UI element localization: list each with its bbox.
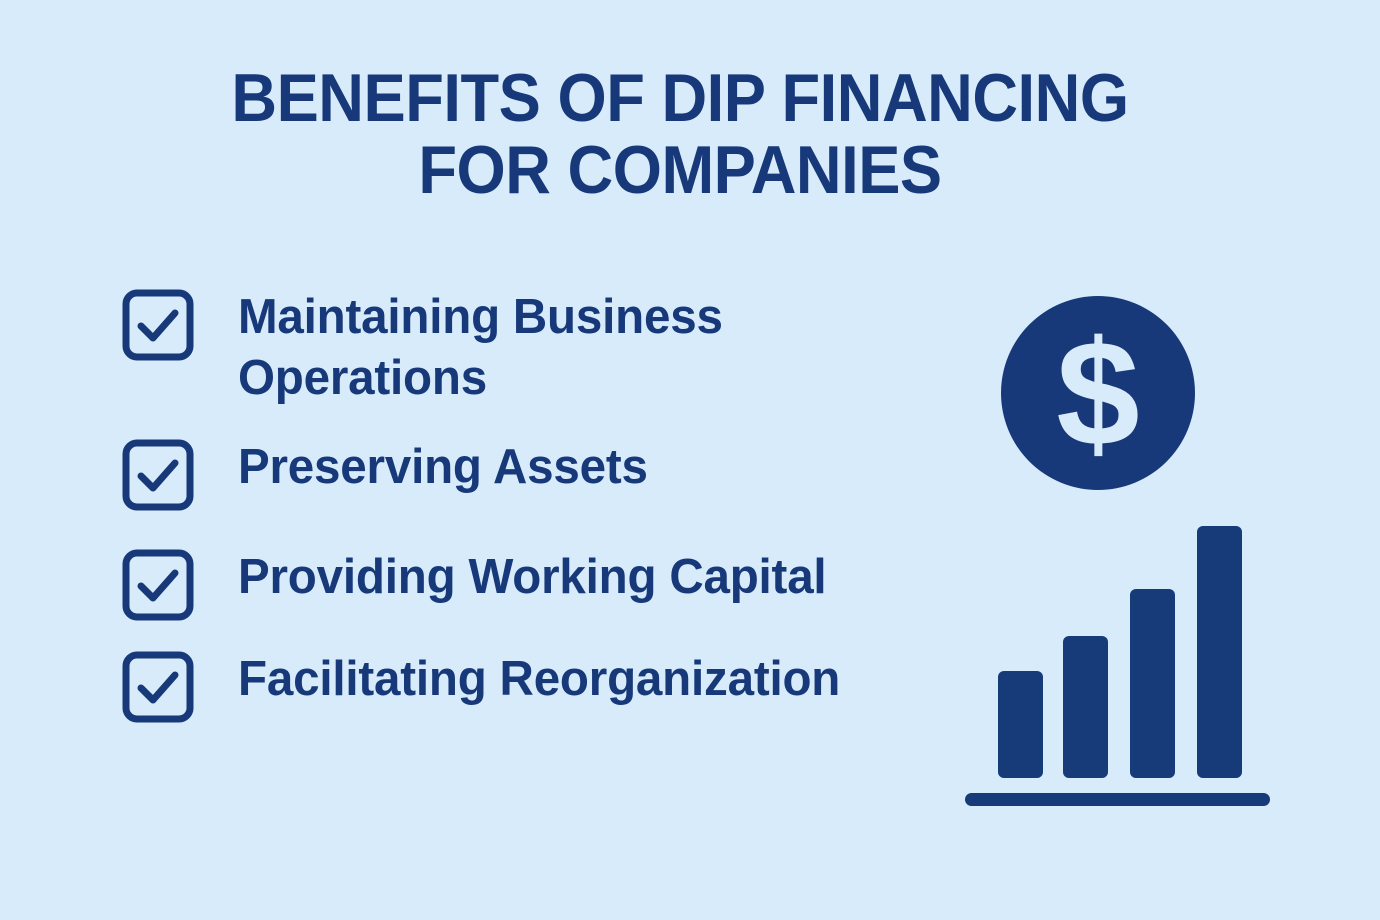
list-item: Preserving Assets <box>122 437 952 511</box>
list-item: Maintaining Business Operations <box>122 287 952 409</box>
list-item-label: Maintaining Business Operations <box>238 287 917 409</box>
svg-text:$: $ <box>1056 309 1139 477</box>
checkbox-checked-icon <box>122 289 194 361</box>
bar-4 <box>1197 526 1242 778</box>
bar-2 <box>1063 636 1108 778</box>
page-title: BENEFITS OF DIP FINANCING FOR COMPANIES <box>90 62 1270 206</box>
list-item: Providing Working Capital <box>122 547 952 621</box>
bar-1 <box>998 671 1043 778</box>
benefits-checklist: Maintaining Business Operations Preservi… <box>122 287 952 723</box>
title-line-2: FOR COMPANIES <box>131 134 1228 206</box>
list-item: Facilitating Reorganization <box>122 649 952 723</box>
chart-baseline <box>965 793 1270 806</box>
bar-chart-icon <box>960 518 1280 808</box>
checkbox-checked-icon <box>122 651 194 723</box>
list-item-label: Preserving Assets <box>238 437 648 498</box>
checkbox-checked-icon <box>122 549 194 621</box>
checkbox-checked-icon <box>122 439 194 511</box>
title-line-1: BENEFITS OF DIP FINANCING <box>131 62 1228 134</box>
list-item-label: Facilitating Reorganization <box>238 649 840 710</box>
list-item-label: Providing Working Capital <box>238 547 826 608</box>
infographic-canvas: BENEFITS OF DIP FINANCING FOR COMPANIES … <box>0 0 1380 920</box>
bar-3 <box>1130 589 1175 778</box>
dollar-circle-icon: $ <box>1000 295 1196 491</box>
